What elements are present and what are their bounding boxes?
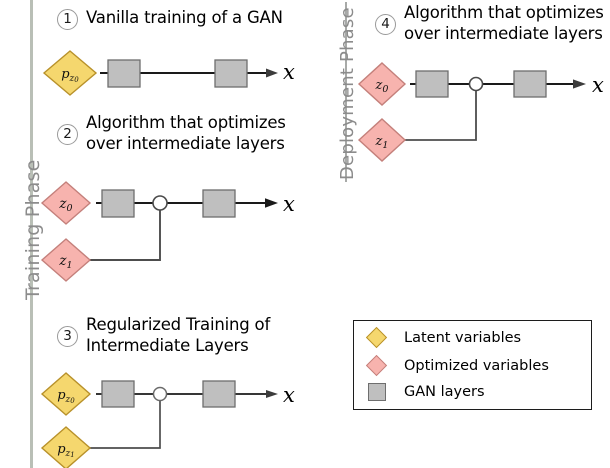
node-input-latent-pz0: pz0 — [44, 51, 96, 95]
output-label-x-2: x — [283, 192, 295, 216]
legend-entry-optimized: Optimized variables — [366, 355, 549, 377]
junction-node — [153, 196, 167, 210]
step-number-3: 3 — [57, 326, 78, 347]
junction-node — [154, 388, 167, 401]
step-number-2: 2 — [57, 124, 78, 145]
gan-layer-square-icon — [366, 381, 388, 403]
output-label-x-4: x — [592, 73, 604, 97]
node-gan-layer — [215, 60, 247, 87]
step-number-1: 1 — [57, 9, 78, 30]
step-title-4: Algorithm that optimizes over intermedia… — [404, 2, 604, 44]
diagram-panel-4: z0 z1 — [358, 62, 603, 162]
legend-label-gan-layers: GAN layers — [404, 384, 485, 400]
legend-entry-latent: Latent variables — [366, 327, 521, 349]
step-number-4: 4 — [375, 14, 396, 35]
node-gan-layer — [203, 190, 235, 217]
legend-entry-gan-layers: GAN layers — [366, 381, 485, 403]
node-input-optimized-z0: z0 — [359, 63, 405, 105]
diagram-panel-3: pz0 pz1 — [40, 372, 300, 468]
step-title-1: Vanilla training of a GAN — [86, 7, 283, 28]
node-gan-layer — [416, 71, 448, 97]
figure-canvas: Training Phase Deployment Phase 1 Vanill… — [0, 0, 610, 468]
node-gan-layer — [514, 71, 546, 97]
step-title-2: Algorithm that optimizes over intermedia… — [86, 112, 286, 154]
legend-label-optimized: Optimized variables — [404, 358, 549, 374]
step-title-3: Regularized Training of Intermediate Lay… — [86, 314, 270, 356]
node-gan-layer — [102, 381, 134, 407]
node-gan-layer — [203, 381, 235, 407]
node-input-optimized-z0: z0 — [42, 182, 90, 224]
optimized-diamond-icon — [366, 355, 388, 377]
junction-node — [470, 78, 483, 91]
diagram-panel-1: pz0 — [40, 45, 300, 110]
node-input-latent-pz0: pz0 — [42, 373, 90, 415]
node-input-optimized-z1: z1 — [359, 119, 405, 161]
node-input-latent-pz1: pz1 — [42, 427, 90, 468]
node-gan-layer — [108, 60, 140, 87]
output-label-x-3: x — [283, 383, 295, 407]
node-input-optimized-z1: z1 — [42, 239, 90, 281]
output-label-x-1: x — [283, 60, 295, 84]
legend-label-latent: Latent variables — [404, 330, 521, 346]
latent-diamond-icon — [366, 327, 388, 349]
deployment-phase-label: Deployment Phase — [337, 7, 358, 180]
legend: Latent variables Optimized variables GAN… — [353, 320, 592, 410]
diagram-panel-2: z0 z1 — [40, 178, 300, 278]
node-gan-layer — [102, 190, 134, 217]
